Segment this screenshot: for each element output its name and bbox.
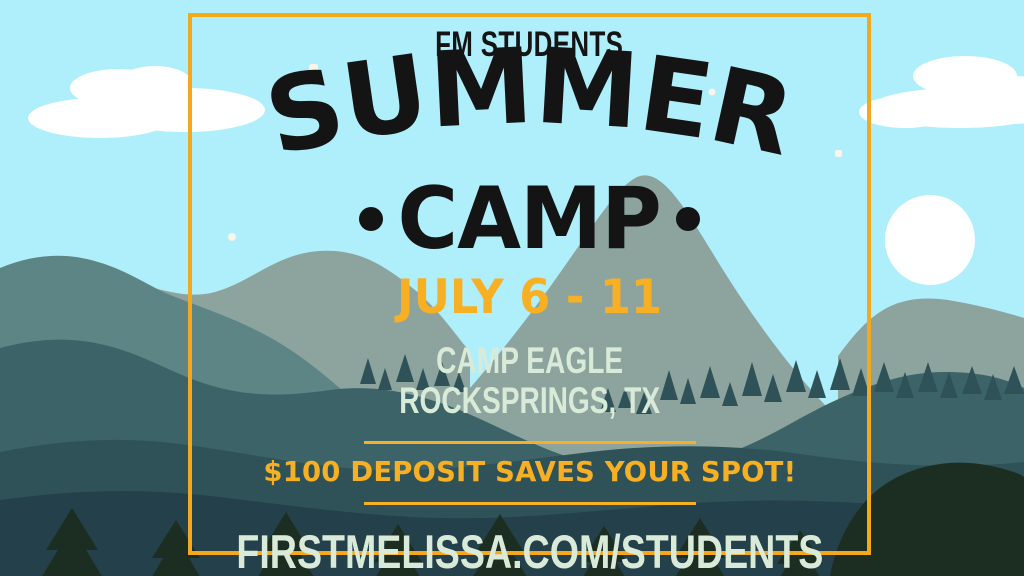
- deposit-callout: $100 DEPOSIT SAVES YOUR SPOT!: [263, 458, 796, 486]
- arched-title-svg: SUMMER: [188, 64, 871, 182]
- camp-dot-right-icon: [676, 207, 700, 231]
- summer-arched-text: SUMMER: [255, 25, 803, 180]
- venue-name: CAMP EAGLE: [399, 341, 660, 381]
- headline-summer-arch: SUMMER: [188, 64, 871, 182]
- summer-textpath: SUMMER: [255, 25, 803, 180]
- camp-dot-left-icon: [359, 207, 383, 231]
- headline-camp-text: CAMP: [398, 176, 661, 262]
- website-url: FIRSTMELISSA.COM/STUDENTS: [236, 528, 823, 575]
- divider-rule-top: [364, 441, 696, 444]
- venue-block: CAMP EAGLE ROCKSPRINGS, TX: [399, 341, 660, 421]
- poster-canvas: FM STUDENTS SUMMER CAMP JULY 6 - 11 CAMP…: [0, 0, 1024, 576]
- divider-rule-bottom: [364, 502, 696, 505]
- headline-camp-line: CAMP: [359, 176, 699, 262]
- sun-icon: [885, 195, 975, 285]
- venue-location: ROCKSPRINGS, TX: [399, 381, 660, 421]
- event-dates: JULY 6 - 11: [397, 274, 662, 321]
- poster-content: FM STUDENTS SUMMER CAMP JULY 6 - 11 CAMP…: [188, 13, 871, 555]
